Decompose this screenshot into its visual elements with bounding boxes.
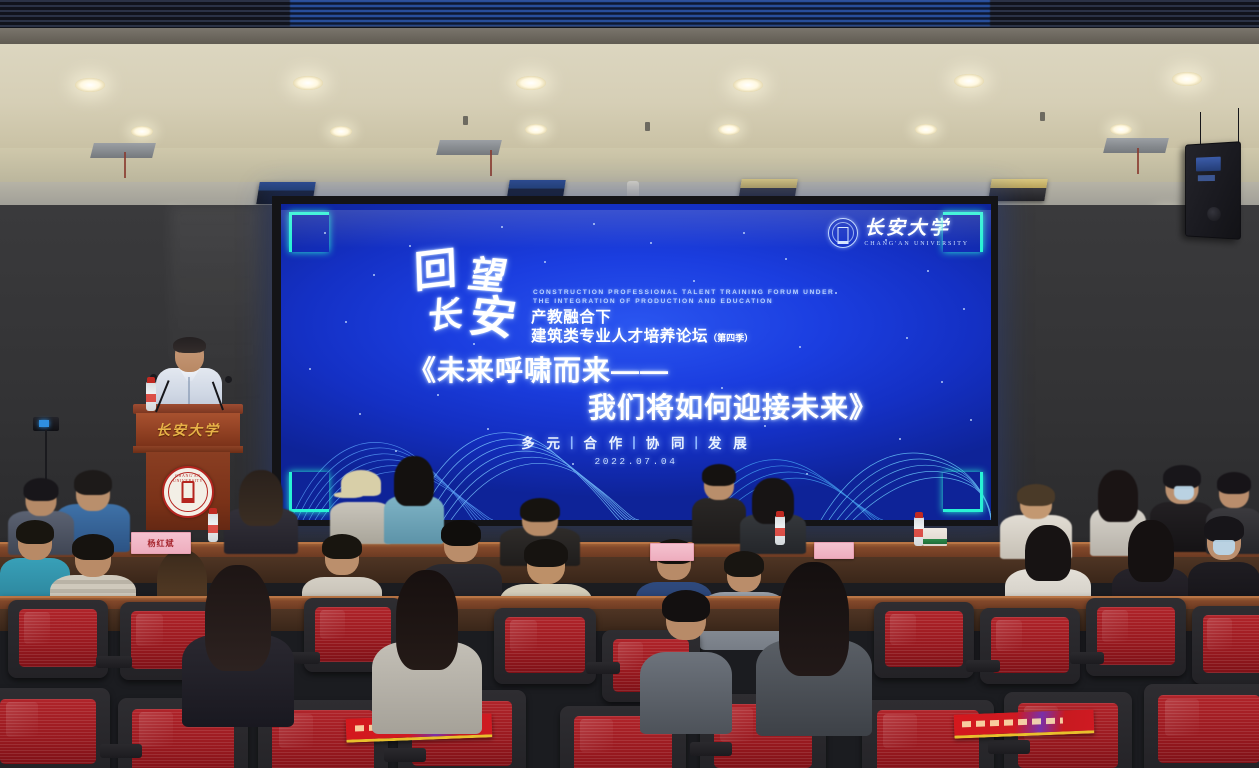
person-hair-long	[239, 470, 283, 526]
person-hair	[662, 590, 710, 622]
lectern: 长安大学 CHANG'AN UNIVERSITY	[133, 404, 243, 530]
person-hair-long	[205, 565, 271, 671]
auditorium-seat[interactable]	[0, 688, 110, 768]
speaker-label	[1198, 175, 1215, 181]
speaker-brand-badge	[1196, 157, 1221, 172]
ceiling-vent	[1103, 138, 1169, 153]
university-emblem-icon: CHANG'AN UNIVERSITY	[162, 466, 214, 518]
ceiling-fitting	[1040, 112, 1045, 121]
seat-armrest	[96, 656, 132, 668]
seat-highlight	[136, 614, 163, 645]
camera-stand	[45, 430, 47, 482]
ceiling-downlight	[1110, 124, 1132, 135]
auditorium-seat[interactable]	[8, 600, 108, 678]
seat-highlight	[580, 719, 613, 752]
person-hair	[16, 520, 54, 544]
auditorium-seat[interactable]	[980, 608, 1080, 684]
auditorium-seat[interactable]	[1144, 684, 1259, 768]
face-mask-icon	[1174, 486, 1194, 500]
seat-armrest	[966, 660, 1000, 672]
auditorium-seat[interactable]	[1086, 598, 1186, 676]
audience-person	[756, 562, 872, 722]
seat-highlight	[1102, 610, 1128, 641]
slide-english-subtitle: CONSTRUCTION PROFESSIONAL TALENT TRAININ…	[533, 288, 834, 306]
baseball-cap-icon	[341, 470, 381, 496]
seat-highlight	[24, 612, 50, 643]
person-torso	[640, 652, 732, 734]
tissue-box-band	[923, 539, 947, 544]
ceiling-downlight	[718, 124, 740, 135]
slide-main-title: 《未来呼啸而来—— 我们将如何迎接未来》	[408, 352, 878, 426]
person-hair	[441, 520, 481, 546]
ceiling-panel-upper	[0, 44, 1259, 150]
face-mask-icon	[1213, 540, 1235, 555]
audience-person	[330, 468, 392, 540]
ceiling-downlight	[525, 124, 547, 135]
ceiling-fitting	[645, 122, 650, 131]
tagline-sep: 丨	[627, 436, 645, 451]
microphone-head	[225, 376, 232, 383]
water-bottle-icon	[775, 516, 785, 545]
wall-speaker-icon	[1185, 141, 1241, 240]
ceiling-slat-panel	[0, 0, 1259, 30]
vent-stem	[490, 150, 492, 176]
calligraphy-char-4: 安	[465, 294, 519, 343]
water-bottle-icon	[208, 513, 218, 542]
seat-highlight	[883, 714, 917, 748]
auditorium-seat[interactable]	[494, 608, 596, 684]
ceiling-vent	[436, 140, 502, 155]
audience-person	[182, 565, 294, 715]
tagline-sep: 丨	[565, 436, 583, 451]
speaker-driver	[1207, 207, 1221, 221]
seat-highlight	[510, 620, 537, 650]
person-torso	[692, 498, 746, 544]
ceiling-downlight	[1172, 72, 1202, 86]
person-hair	[520, 498, 560, 522]
emblem-tower-glyph	[182, 481, 195, 503]
auditorium-seat[interactable]	[1192, 606, 1259, 684]
seat-highlight	[890, 614, 916, 644]
slide-tagline: 多 元丨合 作丨协 同丨发 展	[281, 432, 991, 452]
nameplate-card	[650, 543, 694, 561]
ceiling-downlight	[131, 126, 153, 137]
person-hair-long	[394, 456, 434, 506]
calligraphy-char-2: 望	[465, 257, 510, 297]
calligraphy-char-1: 回	[413, 247, 457, 295]
tagline-item-0: 多 元	[521, 436, 564, 451]
seat-highlight	[1207, 618, 1232, 649]
seat-highlight	[6, 702, 38, 737]
ceiling-downlight	[954, 74, 984, 88]
person-hair	[72, 534, 114, 560]
person-hair	[524, 539, 568, 567]
flyer-text-block	[962, 718, 1063, 727]
person-hair	[1017, 484, 1055, 506]
tagline-item-1: 合 作	[583, 436, 626, 451]
audience-person	[740, 478, 806, 548]
person-hair	[1204, 516, 1244, 542]
english-subtitle-line-2: THE INTEGRATION OF PRODUCTION AND EDUCAT…	[533, 297, 834, 306]
ceiling-downlight	[293, 76, 323, 90]
corner-bracket-top-left	[289, 212, 329, 252]
person-hair	[1217, 472, 1251, 494]
calligraphy-logo: 回 望 长 安	[412, 248, 528, 344]
person-hair-long	[1128, 520, 1174, 582]
audience-person	[640, 592, 732, 722]
person-hair-long	[1098, 470, 1138, 522]
nameplate-card	[814, 542, 854, 559]
ceiling-vent	[90, 143, 156, 158]
season-note: （第四季）	[708, 333, 753, 343]
tagline-item-3: 发 展	[708, 436, 751, 451]
tissue-box-icon	[923, 528, 947, 546]
presenter-person	[156, 339, 222, 411]
person-hair	[322, 534, 362, 559]
person-hair-long	[779, 562, 849, 676]
slide-chinese-subtitle: 产教融合下 建筑类专业人才培养论坛（第四季）	[531, 308, 753, 348]
person-hair	[24, 478, 59, 501]
title-line-2: 我们将如何迎接未来》	[408, 389, 878, 426]
speaker-hanging-wire	[1200, 112, 1201, 146]
vent-stem	[124, 152, 126, 178]
calligraphy-char-3: 长	[427, 297, 464, 335]
water-bottle-icon	[146, 382, 156, 411]
university-seal-icon	[828, 218, 858, 248]
lectern-face: 长安大学	[136, 413, 240, 447]
vent-stem	[1137, 148, 1139, 174]
seat-armrest	[586, 662, 620, 674]
ceiling-fitting	[463, 116, 468, 125]
ceiling-downlight	[733, 78, 763, 92]
corner-bracket-bottom-right	[943, 472, 983, 512]
person-hair	[702, 464, 736, 486]
ceiling-downlight	[915, 124, 937, 135]
ceiling-downlight	[330, 126, 352, 137]
title-line-1: 《未来呼啸而来——	[408, 355, 669, 386]
seat-armrest	[690, 742, 732, 756]
camera-icon	[33, 417, 59, 431]
lecture-hall-photo: 长安大学 CHANG'AN UNIVERSITY 回 望 长 安 CONSTRU…	[0, 0, 1259, 768]
audience-person	[372, 570, 482, 720]
chinese-subtitle-line-2-wrap: 建筑类专业人才培养论坛（第四季）	[531, 327, 753, 348]
person-hair	[74, 470, 112, 495]
english-subtitle-line-1: CONSTRUCTION PROFESSIONAL TALENT TRAININ…	[533, 288, 834, 297]
seat-armrest	[988, 740, 1030, 754]
seat-highlight	[1165, 699, 1199, 736]
seat-highlight	[996, 620, 1022, 650]
ceiling-downlight	[516, 76, 546, 90]
presenter-hair	[173, 337, 206, 353]
tagline-item-2: 协 同	[646, 436, 689, 451]
seat-armrest	[100, 744, 142, 758]
person-hair-long	[1025, 525, 1071, 581]
ceiling-downlight	[75, 78, 105, 92]
person-hair-long	[396, 570, 458, 670]
auditorium-seat[interactable]	[874, 602, 974, 678]
lectern-gold-text: 长安大学	[136, 420, 240, 440]
seat-armrest	[1070, 652, 1104, 664]
seat-highlight	[139, 712, 173, 747]
person-hair-long	[752, 478, 794, 524]
corner-bracket-top-right	[943, 212, 983, 252]
tagline-sep: 丨	[690, 436, 708, 451]
nameplate-card: 杨红斌	[131, 532, 191, 554]
chinese-subtitle-line-1: 产教融合下	[531, 308, 753, 327]
seat-highlight	[320, 610, 345, 640]
seat-armrest	[384, 748, 426, 762]
chinese-subtitle-line-2: 建筑类专业人才培养论坛	[531, 328, 708, 345]
audience-person	[692, 464, 746, 540]
